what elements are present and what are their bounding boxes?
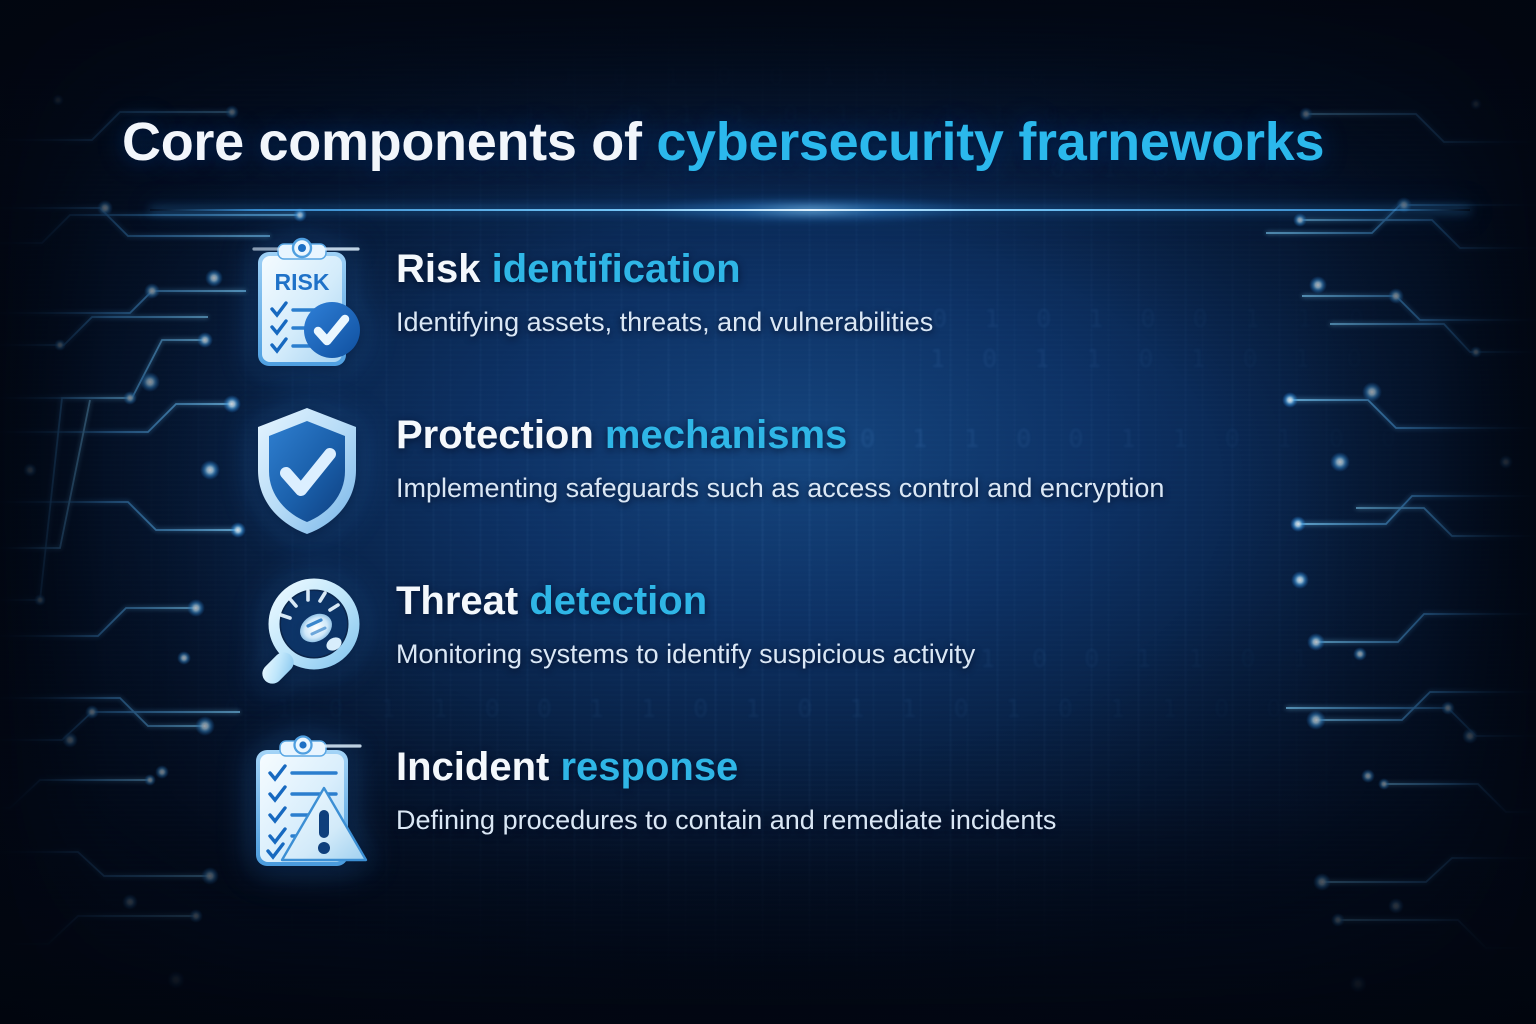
divider-line	[150, 209, 1470, 211]
list-item-heading: Threat detection	[396, 578, 1456, 624]
list-item-heading: Risk identification	[396, 246, 1456, 292]
heading-white: Protection	[396, 413, 605, 457]
list-item-heading: Protection mechanisms	[396, 412, 1456, 458]
shield-check-icon	[248, 400, 366, 542]
page-title: Core components of cybersecurity frarnew…	[122, 112, 1482, 172]
list-item-heading: Incident response	[396, 744, 1456, 790]
heading-white: Risk	[396, 247, 492, 291]
list-item-subtitle: Implementing safeguards such as access c…	[396, 472, 1456, 504]
list-item[interactable]: Protection mechanisms Implementing safeg…	[0, 398, 1536, 564]
heading-white: Threat	[396, 579, 529, 623]
heading-white: Incident	[396, 745, 560, 789]
heading-cyan: mechanisms	[605, 413, 847, 457]
heading-cyan: detection	[529, 579, 707, 623]
magnifier-bug-icon	[248, 566, 366, 708]
page-title-cyan: cybersecurity frarneworks	[656, 112, 1324, 172]
list-item-text: Incident response Defining procedures to…	[396, 744, 1456, 837]
infographic-canvas: 1 0 1 1 0 0 1 0 1 1 0 1 0 0 1 1 0 1 1 0 …	[0, 0, 1536, 1024]
risk-label: RISK	[275, 269, 330, 295]
list-item-text: Threat detection Monitoring systems to i…	[396, 578, 1456, 671]
binary-row: 0 1 0 0 1 1 0 1 0 0 1 0 1 1 0 0 1 0 0 1 …	[300, 58, 1536, 96]
binary-row: 1 0 1 1 0 0 1 0 1 1 0 1 0 0 1 1 0 1 1 0 …	[250, 20, 1536, 58]
heading-cyan: response	[560, 745, 738, 789]
clipboard-risk-check-icon: RISK	[248, 234, 366, 376]
heading-cyan: identification	[492, 247, 741, 291]
component-list: RISK Risk identification Identifying ass…	[0, 232, 1536, 896]
glowing-divider	[0, 196, 1536, 226]
list-item[interactable]: Threat detection Monitoring systems to i…	[0, 564, 1536, 730]
list-item-subtitle: Defining procedures to contain and remed…	[396, 804, 1456, 836]
list-item-text: Risk identification Identifying assets, …	[396, 246, 1456, 339]
list-item[interactable]: Incident response Defining procedures to…	[0, 730, 1536, 896]
list-item-subtitle: Identifying assets, threats, and vulnera…	[396, 306, 1456, 338]
clipboard-warning-icon	[248, 732, 366, 874]
page-title-white: Core components of	[122, 112, 656, 172]
list-item-subtitle: Monitoring systems to identify suspiciou…	[396, 638, 1456, 670]
list-item-text: Protection mechanisms Implementing safeg…	[396, 412, 1456, 505]
list-item[interactable]: RISK Risk identification Identifying ass…	[0, 232, 1536, 398]
